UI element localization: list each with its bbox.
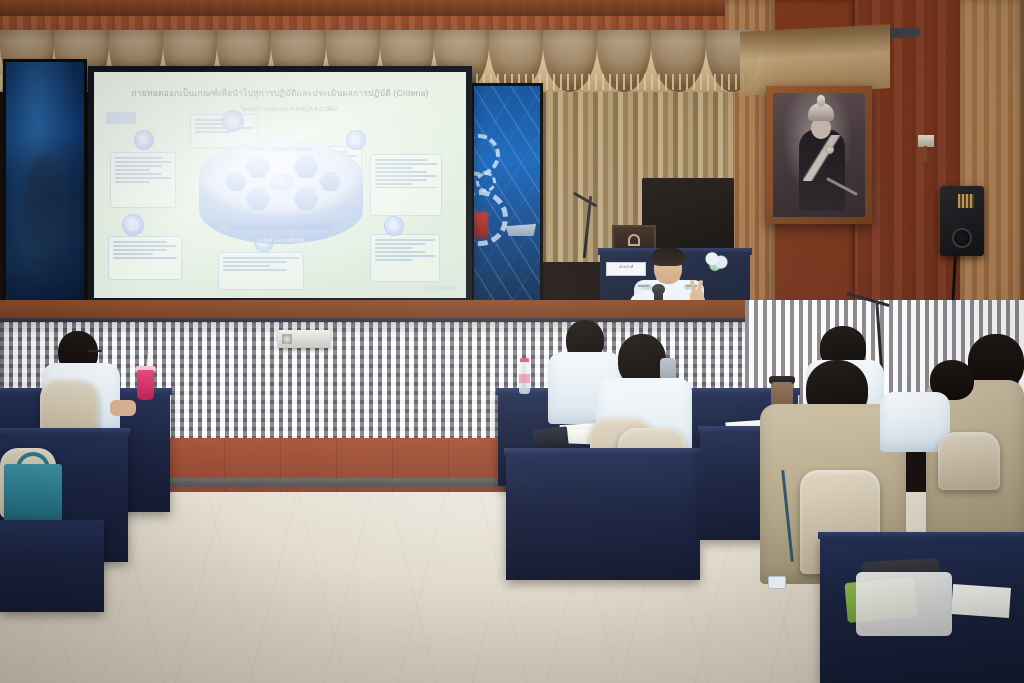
- diagram-tag-chip: [106, 112, 136, 124]
- gear-icon: [476, 172, 496, 192]
- slide-watermark: OPDC/PMQA: [424, 286, 458, 292]
- pa-speaker-woofer: [952, 228, 972, 248]
- portrait-sash: [803, 135, 841, 181]
- framed-portrait: [766, 86, 872, 224]
- portrait-image: [773, 93, 865, 217]
- disc-band-label-2: ผลลัพธ์ และผลสัมฤทธิ์: [221, 236, 341, 246]
- table-center-front-top: [504, 448, 702, 455]
- diagram-hex-node: [225, 172, 247, 191]
- banner-left-figure: [24, 157, 66, 267]
- pa-speaker-horn: [958, 194, 974, 208]
- exhibition-banner-right: [474, 86, 540, 300]
- diagram-center-node: [270, 174, 294, 190]
- diagram-bubble-icon: [134, 130, 154, 150]
- disc-top: Smart Organization: [199, 140, 363, 216]
- water-bottle-label: [519, 374, 530, 383]
- exhibition-banner-left: [6, 62, 84, 304]
- table-left-front-top: [0, 428, 130, 435]
- diagram-hex-node: [293, 156, 319, 178]
- souvenir-bag-white: [856, 572, 952, 636]
- conference-room-photo: ถ่ายทอดออกเป็นเกณฑ์เพื่อนำไปสู่การปฏิบัต…: [0, 0, 1024, 683]
- table-center-front: [506, 452, 700, 580]
- slide-title: ถ่ายทอดออกเป็นเกณฑ์เพื่อนำไปสู่การปฏิบัต…: [106, 86, 454, 100]
- slide-diagram: Smart Organization ผลลัพธ์ และผลสัมฤทธิ์: [94, 108, 466, 298]
- diagram-bubble-icon: [222, 110, 244, 132]
- audience-hand: [110, 400, 136, 416]
- diagram-callout: [370, 234, 440, 282]
- portrait-medal: [825, 145, 834, 154]
- diagram-hex-node: [319, 172, 341, 191]
- diagram-bubble-icon: [384, 216, 404, 236]
- disc-heading: Smart Organization: [199, 146, 363, 153]
- wall-sconce-arm: [924, 146, 927, 162]
- projector-lens-icon: [282, 334, 292, 344]
- ship-icon: [506, 214, 536, 236]
- banner-right-accent: [474, 212, 488, 238]
- portrait-plume: [817, 95, 825, 107]
- face-mask-icon: [660, 358, 676, 380]
- diagram-callout: [108, 236, 182, 280]
- diagram-hex-node: [293, 188, 319, 210]
- projection-screen: ถ่ายทอดออกเป็นเกณฑ์เพื่อนำไปสู่การปฏิบัต…: [94, 72, 466, 298]
- diagram-callout: [110, 152, 176, 208]
- diagram-hex-node: [245, 188, 271, 210]
- glasses-icon: [88, 350, 102, 354]
- wall-top-beam: [0, 0, 760, 16]
- diagram-hex-node: [245, 156, 271, 178]
- table-left-foreground: [0, 520, 104, 612]
- disc-band-label-1: [229, 218, 333, 229]
- presenter-rank-stripe-left: [638, 285, 649, 287]
- presenter-hair: [651, 247, 685, 266]
- tote-bag: [4, 464, 62, 526]
- table-right-foreground-top: [818, 532, 1024, 539]
- diagram-disc: Smart Organization ผลลัพธ์ และผลสัมฤทธิ์: [199, 140, 363, 258]
- gear-icon: [474, 134, 500, 176]
- diagram-bubble-icon: [122, 214, 144, 236]
- chair: [938, 432, 1000, 490]
- drink-cup: [137, 370, 154, 400]
- handout-paper: [951, 584, 1011, 618]
- id-badge: [768, 576, 786, 589]
- diagram-callout: [370, 154, 442, 216]
